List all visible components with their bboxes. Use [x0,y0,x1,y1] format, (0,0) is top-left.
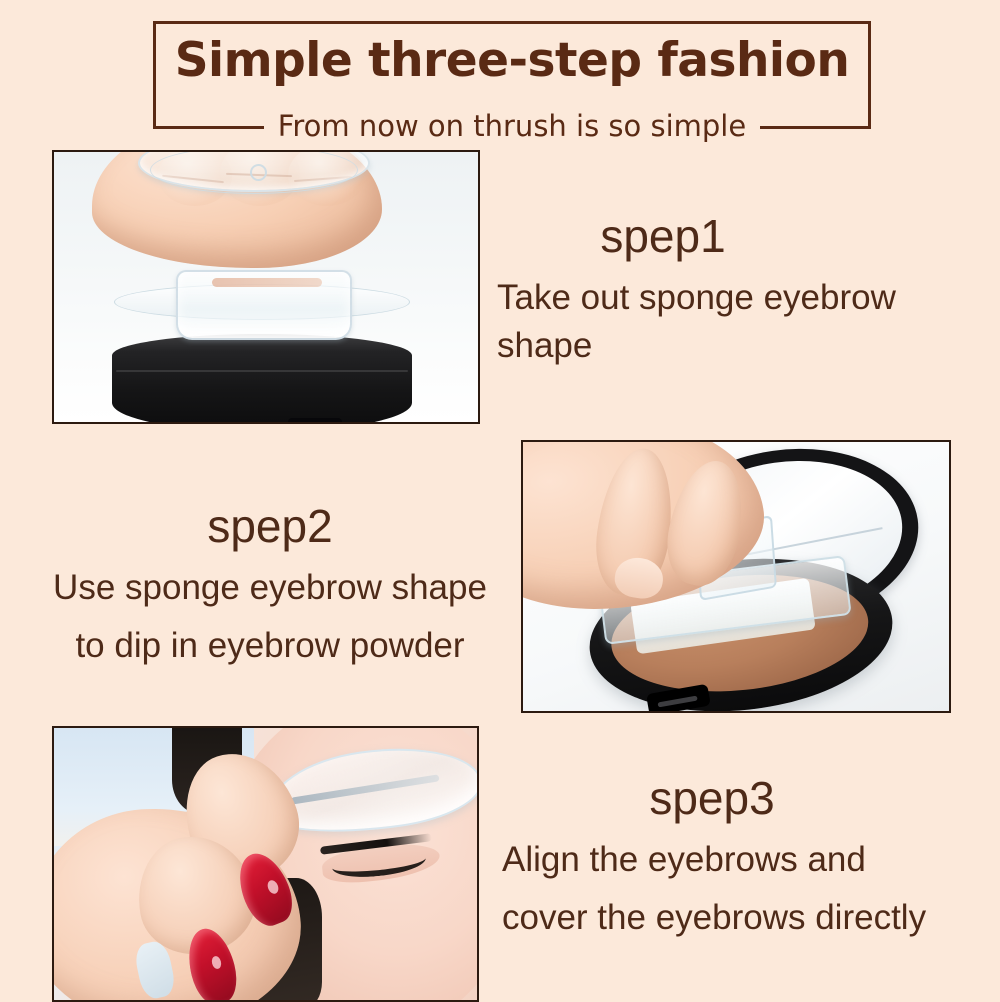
infographic-page: Simple three-step fashion From now on th… [0,0,1000,1000]
step-1-photo-scene [54,152,478,422]
step-2-heading: spep2 [30,498,510,554]
step-3-description-line-1: Align the eyebrows and [492,826,962,884]
compact-base [112,334,412,424]
step-3-photo [52,726,479,1002]
step-3-heading: spep3 [492,770,962,826]
compact-notch [288,418,342,424]
compact-seam [116,370,408,372]
step-2-text-block: spep2 Use sponge eyebrow shape to dip in… [30,498,510,670]
step-2-description-line-1: Use sponge eyebrow shape [30,554,510,612]
step-2-description-line-2: to dip in eyebrow powder [30,612,510,670]
step-3-text-block: spep3 Align the eyebrows and cover the e… [492,770,962,942]
step-3-photo-scene [54,728,477,1000]
sponge-stamp [176,270,352,340]
step-2-photo-scene [523,442,949,711]
stamp-sponge-pad [212,278,322,287]
step-3-description-line-2: cover the eyebrows directly [492,884,962,942]
step-1-description: Take out sponge eyebrow shape [497,264,957,370]
page-subtitle: From now on thrush is so simple [264,106,760,146]
lid-logo-icon [250,164,267,181]
step-1-heading: spep1 [497,208,957,264]
step-2-photo [521,440,951,713]
page-title: Simple three-step fashion [153,26,871,96]
subtitle-wrapper: From now on thrush is so simple [153,100,871,152]
step-1-text-block: spep1 Take out sponge eyebrow shape [497,208,957,370]
step-1-photo [52,150,480,424]
